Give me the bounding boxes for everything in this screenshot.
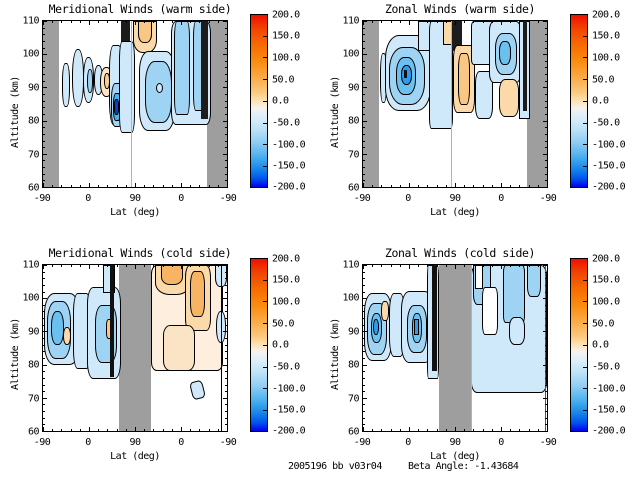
axis-tick: [483, 185, 484, 187]
axis-tick: [225, 285, 227, 286]
axis-tick: [538, 265, 539, 267]
axis-tick: [209, 185, 210, 187]
axis-tick: [225, 424, 227, 425]
axis-tick: [43, 351, 45, 352]
axis-tick: [89, 183, 90, 187]
axis-tick: [172, 185, 173, 187]
axis-tick: [492, 21, 493, 23]
axis-tick: [43, 67, 45, 68]
axis-tick: [363, 54, 367, 55]
axis-tick: [225, 278, 227, 279]
axis-tick: [363, 265, 364, 269]
colorbar-tick: [583, 345, 588, 346]
axis-tick: [418, 21, 419, 23]
x-tick-label: -90: [540, 193, 557, 204]
contour-blob: [523, 21, 527, 111]
axis-tick: [218, 265, 219, 267]
axis-tick: [455, 21, 456, 25]
axis-tick: [545, 147, 547, 148]
axis-tick: [43, 41, 45, 42]
axis-tick: [455, 427, 456, 431]
colorbar-tick: [263, 123, 268, 124]
axis-tick: [363, 134, 365, 135]
axis-tick: [363, 81, 365, 82]
axis-tick: [543, 331, 547, 332]
axis-tick: [43, 398, 47, 399]
axis-tick: [372, 265, 373, 267]
y-tick-label: 70: [6, 394, 39, 405]
colorbar-tick-label: 0.0: [272, 340, 289, 351]
x-tick-label: 90: [449, 437, 460, 448]
axis-tick: [172, 21, 173, 23]
axis-tick: [492, 265, 493, 267]
axis-tick: [409, 265, 410, 269]
colorbar-tick-label: -50.0: [592, 362, 620, 373]
axis-tick: [61, 21, 62, 23]
colorbar-tick-label: -200.0: [272, 426, 305, 437]
axis-tick: [381, 21, 382, 23]
axis-tick: [427, 21, 428, 23]
axis-tick: [223, 54, 227, 55]
axis-tick: [43, 54, 47, 55]
axis-tick: [43, 418, 45, 419]
axis-tick: [427, 265, 428, 267]
contour-blob: [458, 53, 470, 105]
axis-tick: [547, 183, 548, 187]
axis-tick: [545, 61, 547, 62]
axis-tick: [225, 160, 227, 161]
axis-tick: [71, 429, 72, 431]
axis-tick: [225, 411, 227, 412]
axis-tick: [543, 54, 547, 55]
axis-tick: [519, 21, 520, 23]
contour-blob: [174, 21, 190, 115]
axis-tick: [545, 318, 547, 319]
axis-tick: [519, 429, 520, 431]
y-tick-label: 90: [6, 83, 39, 94]
axis-tick: [363, 121, 367, 122]
axis-tick: [225, 167, 227, 168]
colorbar-tick: [263, 79, 268, 80]
axis-tick: [107, 185, 108, 187]
axis-tick: [225, 338, 227, 339]
contour-blob: [432, 265, 437, 371]
axis-tick: [446, 185, 447, 187]
axis-tick: [363, 318, 365, 319]
contour-blob: [119, 41, 135, 133]
axis-tick: [455, 265, 456, 269]
axis-tick: [43, 48, 45, 49]
axis-tick: [363, 325, 365, 326]
axis-tick: [409, 21, 410, 25]
axis-tick: [43, 107, 45, 108]
axis-tick: [43, 28, 45, 29]
colorbar-tick: [263, 345, 268, 346]
colorbar-tick: [263, 144, 268, 145]
axis-tick: [545, 48, 547, 49]
axis-tick: [43, 167, 45, 168]
contour-blob: [138, 21, 152, 43]
colorbar-tick-label: 150.0: [592, 31, 620, 42]
colorbar-tick-label: -200.0: [592, 426, 625, 437]
axis-tick: [372, 21, 373, 23]
axis-tick: [545, 305, 547, 306]
contour-blob: [163, 325, 195, 371]
axis-tick: [225, 174, 227, 175]
axis-tick: [225, 81, 227, 82]
axis-tick: [190, 185, 191, 187]
axis-tick: [223, 154, 227, 155]
axis-tick: [363, 107, 365, 108]
axis-tick: [501, 265, 502, 269]
axis-tick: [545, 141, 547, 142]
axis-tick: [225, 34, 227, 35]
axis-tick: [163, 21, 164, 23]
contour-blob: [499, 41, 511, 65]
x-tick-label: -90: [220, 193, 237, 204]
axis-tick: [181, 183, 182, 187]
contour-blob: [189, 380, 206, 401]
axis-tick: [363, 147, 365, 148]
axis-tick: [473, 21, 474, 23]
axis-tick: [117, 265, 118, 267]
axis-tick: [363, 174, 365, 175]
axis-tick: [545, 28, 547, 29]
colorbar-tick-label: -150.0: [272, 161, 305, 172]
colorbar-tick: [583, 367, 588, 368]
colorbar-tick-label: 100.0: [592, 297, 620, 308]
axis-tick: [225, 61, 227, 62]
y-tick-label: 100: [6, 293, 39, 304]
colorbar-tick: [583, 144, 588, 145]
axis-tick: [545, 325, 547, 326]
axis-tick: [43, 147, 45, 148]
axis-tick: [80, 429, 81, 431]
axis-tick: [400, 265, 401, 267]
axis-tick: [363, 371, 365, 372]
axis-tick: [71, 21, 72, 23]
axis-tick: [437, 429, 438, 431]
axis-tick: [43, 325, 45, 326]
axis-tick: [52, 185, 53, 187]
axis-tick: [510, 21, 511, 23]
axis-tick: [43, 298, 47, 299]
axis-tick: [61, 185, 62, 187]
axis-tick: [43, 378, 45, 379]
colorbar-tick-label: 150.0: [592, 275, 620, 286]
axis-tick: [545, 311, 547, 312]
y-tick-label: 60: [326, 427, 359, 438]
axis-tick: [43, 305, 45, 306]
axis-tick: [98, 265, 99, 267]
x-axis-label: Lat (deg): [42, 207, 228, 218]
y-tick-label: 70: [326, 150, 359, 161]
axis-tick: [483, 429, 484, 431]
axis-tick: [225, 94, 227, 95]
axis-tick: [225, 391, 227, 392]
axis-tick: [446, 265, 447, 267]
colorbar-tick-label: -150.0: [592, 161, 625, 172]
axis-tick: [363, 398, 367, 399]
y-tick-label: 110: [326, 16, 359, 27]
axis-tick: [545, 160, 547, 161]
axis-tick: [98, 21, 99, 23]
axis-tick: [363, 187, 367, 188]
x-tick-label: -90: [34, 193, 51, 204]
axis-tick: [218, 185, 219, 187]
axis-tick: [225, 292, 227, 293]
x-axis-label: Lat (deg): [42, 451, 228, 462]
plot-area-meridional-warm: [42, 20, 228, 188]
axis-tick: [545, 391, 547, 392]
contour-blob: [121, 21, 130, 43]
axis-tick: [545, 272, 547, 273]
axis-tick: [391, 21, 392, 23]
y-tick-label: 100: [326, 293, 359, 304]
axis-tick: [43, 427, 44, 431]
colorbar-tick-label: 200.0: [592, 254, 620, 265]
x-tick-label: -90: [34, 437, 51, 448]
colorbar-tick: [263, 367, 268, 368]
axis-tick: [223, 398, 227, 399]
colorbar-tick-label: -100.0: [592, 140, 625, 151]
axis-tick: [363, 424, 365, 425]
axis-tick: [225, 147, 227, 148]
axis-tick: [43, 34, 45, 35]
axis-tick: [190, 265, 191, 267]
masked-band: [363, 21, 379, 187]
axis-tick: [71, 185, 72, 187]
axis-tick: [492, 185, 493, 187]
axis-tick: [225, 41, 227, 42]
axis-tick: [126, 265, 127, 267]
colorbar-tick-label: -150.0: [272, 405, 305, 416]
axis-tick: [363, 411, 365, 412]
x-tick-label: -90: [540, 437, 557, 448]
y-tick-label: 110: [6, 260, 39, 271]
axis-tick: [43, 21, 44, 25]
colorbar-tick-label: 150.0: [272, 31, 300, 42]
axis-tick: [545, 278, 547, 279]
contour-blob: [62, 63, 70, 107]
axis-tick: [545, 411, 547, 412]
axis-tick: [135, 183, 136, 187]
axis-tick: [363, 285, 365, 286]
colorbar-tick: [583, 301, 588, 302]
x-tick-label: 90: [129, 437, 140, 448]
axis-tick: [126, 429, 127, 431]
axis-tick: [153, 21, 154, 23]
axis-tick: [363, 378, 365, 379]
axis-tick: [223, 431, 227, 432]
axis-tick: [43, 345, 45, 346]
colorbar-tick-label: 100.0: [272, 53, 300, 64]
axis-tick: [455, 183, 456, 187]
axis-tick: [391, 265, 392, 267]
axis-tick: [446, 429, 447, 431]
axis-tick: [473, 265, 474, 267]
axis-tick: [363, 418, 365, 419]
axis-tick: [501, 183, 502, 187]
axis-tick: [363, 160, 365, 161]
colorbar-tick-label: -200.0: [272, 182, 305, 193]
x-tick-label: 0: [498, 437, 504, 448]
axis-tick: [225, 311, 227, 312]
axis-tick: [43, 94, 45, 95]
axis-tick: [545, 404, 547, 405]
axis-tick: [529, 429, 530, 431]
y-tick-label: 110: [326, 260, 359, 271]
contour-blob: [414, 319, 419, 335]
panel-meridional-cold: Meridional Winds (cold side) Altitude (k…: [0, 240, 320, 480]
axis-tick: [418, 265, 419, 267]
axis-tick: [545, 285, 547, 286]
axis-tick: [225, 272, 227, 273]
axis-tick: [437, 185, 438, 187]
axis-tick: [473, 429, 474, 431]
axis-tick: [43, 411, 45, 412]
y-tick-label: 90: [6, 327, 39, 338]
panel-zonal-warm: Zonal Winds (warm side) Altitude (km) 11…: [320, 0, 640, 240]
colorbar-tick-label: 0.0: [272, 96, 289, 107]
axis-tick: [225, 114, 227, 115]
axis-tick: [153, 265, 154, 267]
axis-tick: [43, 391, 45, 392]
x-tick-label: 0: [178, 437, 184, 448]
axis-tick: [80, 21, 81, 23]
colorbar-tick-label: -100.0: [592, 384, 625, 395]
axis-tick: [409, 427, 410, 431]
axis-tick: [363, 101, 365, 102]
axis-tick: [43, 371, 45, 372]
colorbar-tick: [583, 323, 588, 324]
axis-tick: [43, 404, 45, 405]
colorbar-tick-label: 50.0: [592, 75, 614, 86]
axis-tick: [225, 180, 227, 181]
axis-tick: [117, 21, 118, 23]
axis-tick: [363, 278, 365, 279]
axis-tick: [483, 21, 484, 23]
axis-tick: [43, 285, 45, 286]
axis-tick: [363, 305, 365, 306]
axis-tick: [427, 185, 428, 187]
x-tick-label: 0: [85, 193, 91, 204]
axis-tick: [43, 358, 45, 359]
axis-tick: [538, 185, 539, 187]
axis-tick: [144, 265, 145, 267]
colorbar-tick: [263, 57, 268, 58]
axis-tick: [225, 107, 227, 108]
axis-tick: [181, 21, 182, 25]
axis-tick: [43, 331, 47, 332]
y-tick-label: 60: [326, 183, 359, 194]
axis-tick: [464, 21, 465, 23]
axis-tick: [363, 141, 365, 142]
axis-tick: [223, 87, 227, 88]
footer-dataset-id: 2005196 bb v03r04: [288, 461, 382, 472]
axis-tick: [126, 21, 127, 23]
axis-tick: [225, 134, 227, 135]
colorbar-tick: [583, 57, 588, 58]
axis-tick: [363, 180, 365, 181]
contour-blob: [161, 265, 183, 285]
axis-tick: [199, 185, 200, 187]
y-tick-label: 80: [326, 116, 359, 127]
colorbar-tick: [263, 301, 268, 302]
x-tick-label: 90: [449, 193, 460, 204]
axis-tick: [61, 429, 62, 431]
axis-tick: [501, 427, 502, 431]
colorbar-tick-label: -50.0: [272, 118, 300, 129]
axis-tick: [43, 114, 45, 115]
x-tick-label: 0: [405, 193, 411, 204]
footer-beta-angle: Beta Angle: -1.43684: [408, 461, 518, 472]
axis-tick: [363, 345, 365, 346]
axis-tick: [80, 185, 81, 187]
colorbar-tick: [583, 280, 588, 281]
axis-tick: [223, 331, 227, 332]
x-tick-label: 90: [129, 193, 140, 204]
axis-tick: [545, 107, 547, 108]
axis-tick: [43, 272, 45, 273]
axis-tick: [381, 429, 382, 431]
axis-tick: [529, 265, 530, 267]
axis-tick: [181, 427, 182, 431]
y-tick-label: 70: [326, 394, 359, 405]
axis-tick: [227, 265, 228, 269]
axis-tick: [43, 311, 45, 312]
colorbar-tick-label: 50.0: [272, 319, 294, 330]
colorbar-tick-label: 200.0: [592, 10, 620, 21]
axis-tick: [52, 265, 53, 267]
axis-tick: [545, 292, 547, 293]
axis-tick: [372, 429, 373, 431]
axis-tick: [225, 385, 227, 386]
axis-tick: [545, 74, 547, 75]
contour-blob: [110, 265, 114, 377]
contour-blob: [156, 83, 163, 93]
colorbar-tick: [263, 388, 268, 389]
sweep-divider: [471, 265, 472, 431]
axis-tick: [89, 21, 90, 25]
axis-tick: [225, 305, 227, 306]
axis-tick: [363, 427, 364, 431]
sweep-divider: [131, 21, 132, 187]
x-tick-label: 0: [498, 193, 504, 204]
axis-tick: [400, 429, 401, 431]
axis-tick: [363, 127, 365, 128]
axis-tick: [464, 265, 465, 267]
axis-tick: [163, 185, 164, 187]
axis-tick: [545, 351, 547, 352]
axis-tick: [225, 358, 227, 359]
axis-tick: [43, 292, 45, 293]
axis-tick: [363, 41, 365, 42]
axis-tick: [363, 358, 365, 359]
axis-tick: [545, 81, 547, 82]
axis-tick: [363, 311, 365, 312]
axis-tick: [363, 404, 365, 405]
x-tick-label: -90: [354, 437, 371, 448]
contour-blob: [482, 287, 498, 335]
axis-tick: [43, 187, 47, 188]
axis-tick: [363, 74, 365, 75]
axis-tick: [363, 67, 365, 68]
axis-tick: [418, 429, 419, 431]
colorbar-tick: [263, 280, 268, 281]
axis-tick: [227, 427, 228, 431]
axis-tick: [61, 265, 62, 267]
